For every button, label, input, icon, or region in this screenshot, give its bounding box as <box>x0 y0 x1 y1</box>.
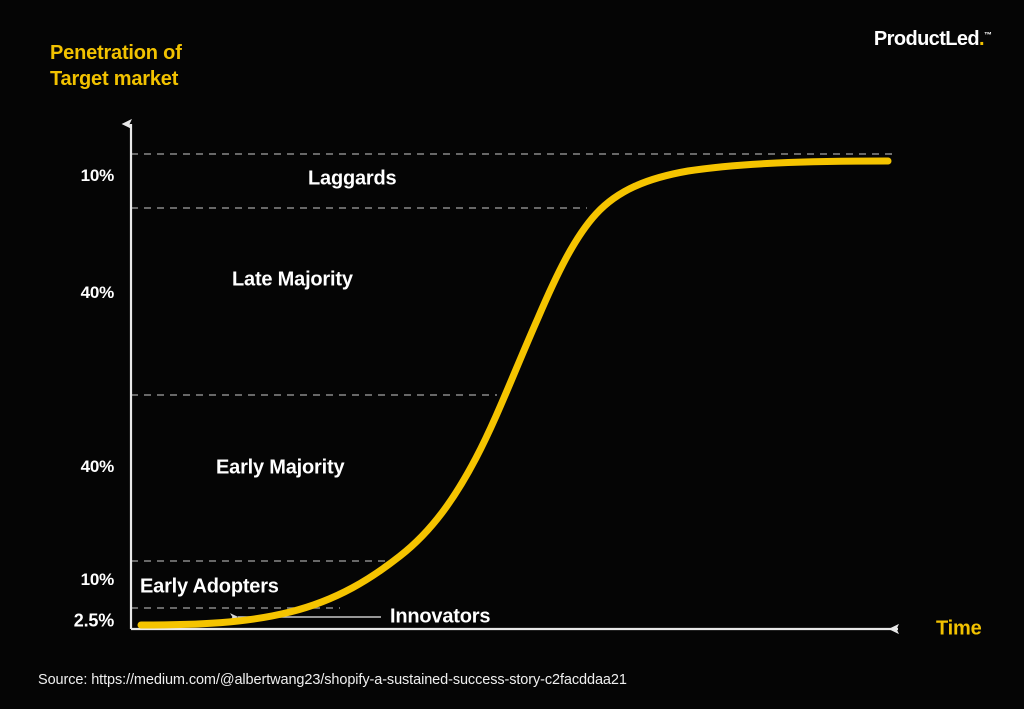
adoption-curve-plot <box>0 0 1024 709</box>
segment-label-late-majority: Late Majority <box>232 269 353 292</box>
y-tick-label-innovators: 2.5% <box>42 611 114 632</box>
y-tick-label-early-majority: 40% <box>42 457 114 477</box>
segment-label-laggards: Laggards <box>308 168 396 191</box>
segment-label-early-adopters: Early Adopters <box>140 576 279 599</box>
segment-label-early-majority: Early Majority <box>216 457 344 480</box>
source-caption: Source: https://medium.com/@albertwang23… <box>38 672 627 688</box>
y-tick-label-early-adopters: 10% <box>42 570 114 590</box>
segment-label-innovators: Innovators <box>390 606 490 629</box>
chart-canvas: Penetration of Target market ProductLed.… <box>0 0 1024 709</box>
y-tick-label-late-majority: 40% <box>42 283 114 303</box>
adoption-s-curve <box>141 161 888 625</box>
y-tick-label-laggards: 10% <box>42 166 114 186</box>
x-axis-title: Time <box>936 618 982 641</box>
